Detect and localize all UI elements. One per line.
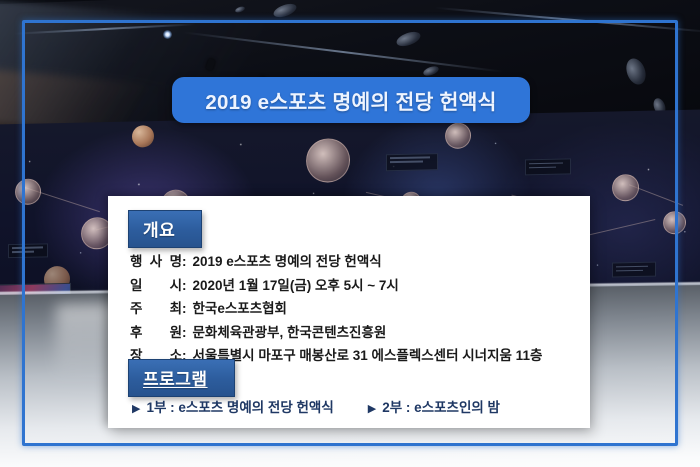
info-label-datetime: 일 시 [130,274,182,294]
event-info-list: 행 사 명 : 2019 e스포츠 명예의 전당 헌액식 일 시 : 2020년… [130,250,576,368]
triangle-right-icon: ▶ [132,404,140,415]
mural-placard [386,153,438,171]
info-label-host: 주 최 [130,297,182,317]
info-row: 일 시 : 2020년 1월 17일(금) 오후 5시 ~ 7시 [130,274,576,294]
mural-placard [8,243,48,258]
mural-placard [612,262,656,278]
info-colon: : [182,254,187,269]
info-value-event-name: 2019 e스포츠 명예의 전당 헌액식 [193,250,382,270]
section-header-program: 프로그램 [128,359,235,397]
info-value-sponsor: 문화체육관광부, 한국콘텐츠진흥원 [193,321,387,341]
content-panel: 개요 행 사 명 : 2019 e스포츠 명예의 전당 헌액식 일 시 : 20… [108,196,590,428]
info-label-sponsor: 후 원 [130,321,182,341]
program-item-part2: ▶ 2부 : e스포츠인의 밤 [368,396,500,416]
triangle-right-icon: ▶ [368,404,376,415]
info-value-datetime: 2020년 1월 17일(금) 오후 5시 ~ 7시 [193,274,399,294]
program-item-part1: ▶ 1부 : e스포츠 명예의 전당 헌액식 [132,396,334,416]
mural-placard [525,158,571,175]
mural-portrait-node [15,178,41,205]
info-colon: : [182,301,187,316]
mural-portrait-node [663,211,686,234]
mural-portrait-node [445,123,471,150]
info-colon: : [182,325,187,340]
section-header-program-label: 프로그램 [143,370,208,389]
info-value-host: 한국e스포츠협회 [193,297,287,317]
page-title: 2019 e스포츠 명예의 전당 헌액식 [205,85,496,115]
program-list: ▶ 1부 : e스포츠 명예의 전당 헌액식 ▶ 2부 : e스포츠인의 밤 [132,396,580,416]
mural-planet [132,125,154,147]
section-header-overview-label: 개요 [143,221,175,240]
program-item-part1-label: 1부 : e스포츠 명예의 전당 헌액식 [146,396,333,416]
info-label-event-name: 행 사 명 [130,250,182,270]
info-value-venue: 서울특별시 마포구 매봉산로 31 에스플렉스센터 시너지움 11층 [193,344,543,364]
info-colon: : [182,278,187,293]
section-header-overview: 개요 [128,210,202,248]
info-row: 후 원 : 문화체육관광부, 한국콘텐츠진흥원 [130,321,576,341]
info-row: 행 사 명 : 2019 e스포츠 명예의 전당 헌액식 [130,250,576,270]
info-row: 주 최 : 한국e스포츠협회 [130,297,576,317]
title-banner: 2019 e스포츠 명예의 전당 헌액식 [172,77,530,123]
program-item-part2-label: 2부 : e스포츠인의 밤 [382,396,500,416]
